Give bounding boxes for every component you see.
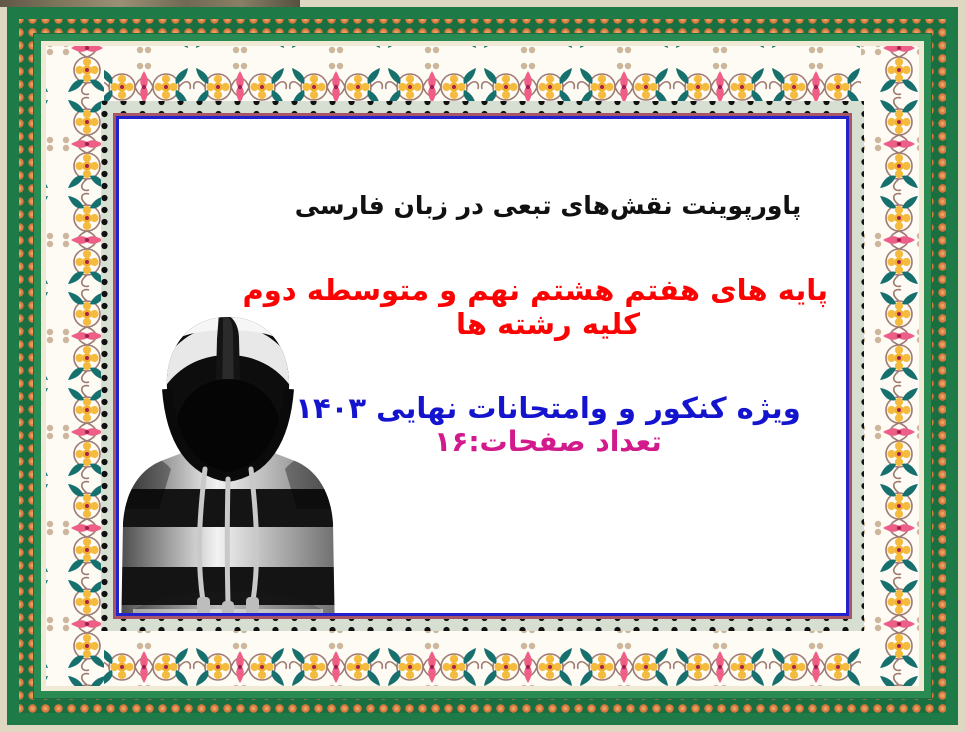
exam-line: ویژه کنکور و وامتحانات نهایی ۱۴۰۳ <box>268 391 828 425</box>
page-count-line: تعداد صفحات:۱۶ <box>268 425 828 458</box>
grades-line-two: کلیه رشته ها <box>268 307 828 341</box>
page-title: پاورپوینت نقش‌های تبعی در زبان فارسی <box>268 191 828 221</box>
grades-line-one: پایه های هفتم هشتم نهم و متوسطه دوم <box>268 273 828 307</box>
slide-text-block: پاورپوینت نقش‌های تبعی در زبان فارسی پای… <box>268 191 828 458</box>
spacer-one <box>268 221 828 273</box>
top-edge-artifact <box>0 0 300 7</box>
slide-content-area: پاورپوینت نقش‌های تبعی در زبان فارسی پای… <box>119 119 846 613</box>
slide-canvas: پاورپوینت نقش‌های تبعی در زبان فارسی پای… <box>0 0 965 732</box>
spacer-two <box>268 341 828 391</box>
